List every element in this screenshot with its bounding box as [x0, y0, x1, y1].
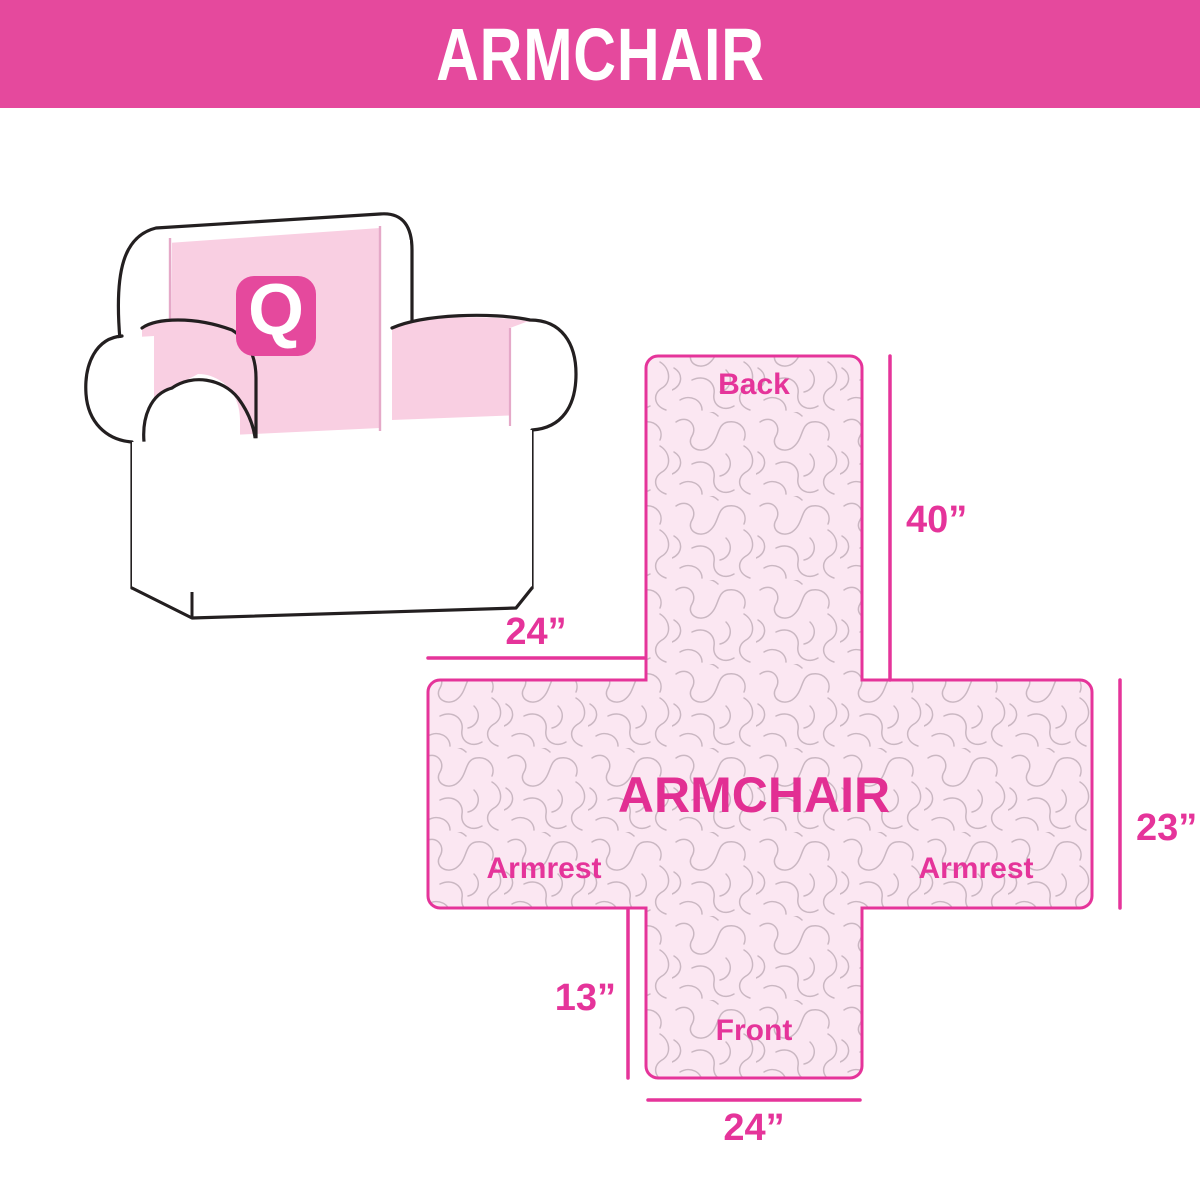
dimension-value-23: 23”	[1136, 807, 1197, 849]
content-stage: Q	[0, 108, 1200, 1200]
panel-label-back: Back	[718, 368, 790, 401]
dimension-front-width: 24”	[648, 1100, 860, 1148]
dimension-armrest-width: 24”	[428, 611, 644, 658]
logo-letter: Q	[248, 270, 304, 350]
brand-logo: Q	[236, 270, 316, 356]
dimension-value-40: 40”	[906, 499, 967, 541]
header-banner: ARMCHAIR	[0, 0, 1200, 108]
panel-label-front: Front	[716, 1014, 793, 1047]
cross-shape	[420, 328, 1200, 1148]
dimension-back-height: 40”	[890, 356, 967, 680]
page-title: ARMCHAIR	[436, 18, 765, 92]
cover-layout-diagram: Back ARMCHAIR Armrest Armrest Front 40” …	[420, 328, 1200, 1148]
dimension-value-24-top: 24”	[505, 611, 566, 653]
diagram-center-label: ARMCHAIR	[618, 767, 890, 823]
dimension-center-height: 23”	[1120, 680, 1197, 908]
dimension-value-24-bottom: 24”	[723, 1107, 784, 1148]
dimension-front-height: 13”	[555, 910, 628, 1078]
panel-label-armrest-right: Armrest	[918, 852, 1033, 885]
quilt-texture	[420, 328, 1200, 1148]
page-root: ARMCHAIR	[0, 0, 1200, 1200]
panel-label-armrest-left: Armrest	[486, 852, 601, 885]
dimension-value-13: 13”	[555, 977, 616, 1019]
